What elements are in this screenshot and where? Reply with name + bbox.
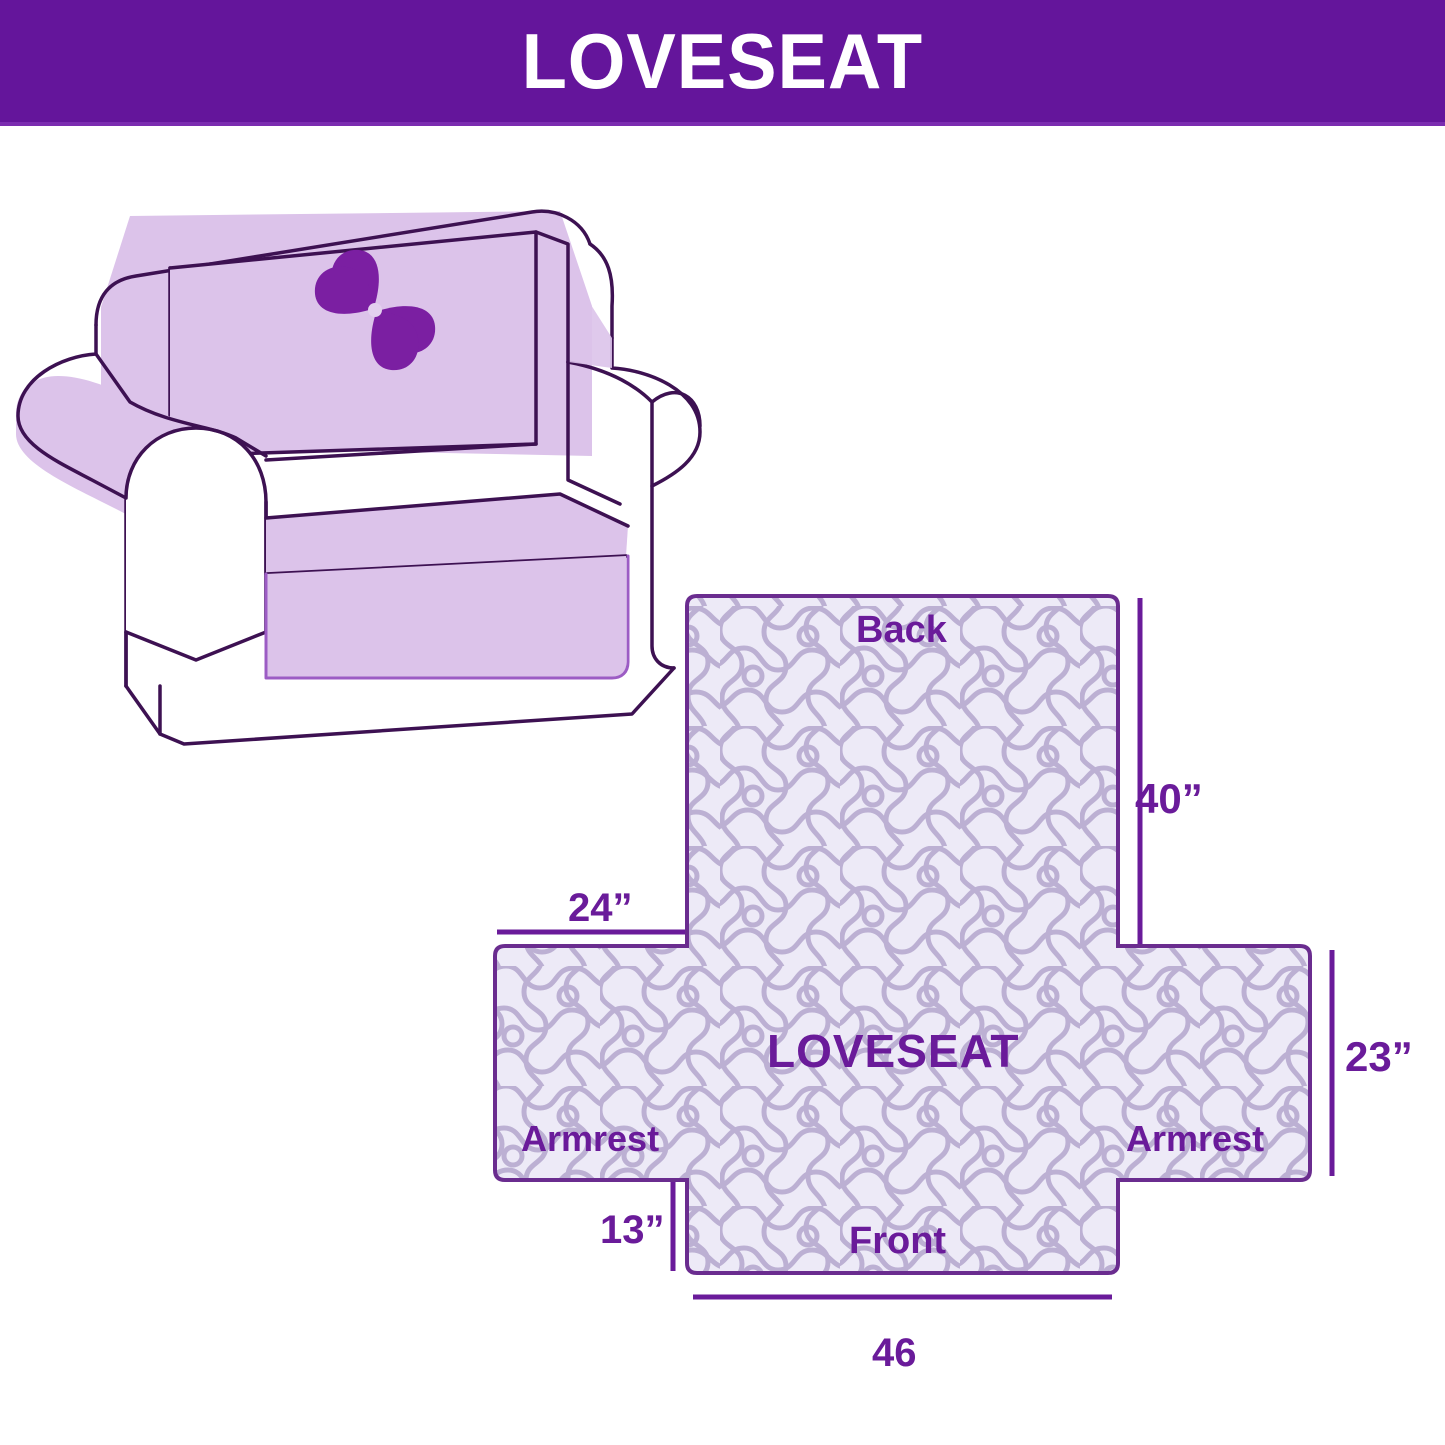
panel-label-back: Back bbox=[856, 611, 947, 649]
panel-label-armrest-left: Armrest bbox=[521, 1121, 659, 1157]
panel-label-front: Front bbox=[849, 1222, 946, 1260]
illustration-stage bbox=[0, 126, 1445, 1445]
dimension-label-back-height: 40” bbox=[1135, 778, 1203, 820]
panel-label-loveseat: LOVESEAT bbox=[767, 1028, 1020, 1074]
page-title: LOVESEAT bbox=[522, 22, 923, 100]
loveseat-line-drawing bbox=[16, 211, 700, 744]
page-header: LOVESEAT bbox=[0, 0, 1445, 126]
sofa-left-arm-roll bbox=[126, 428, 266, 660]
dimension-label-armrest-width: 24” bbox=[568, 888, 633, 928]
dimension-label-front-height: 13” bbox=[600, 1210, 665, 1250]
dimension-label-seat-width: 46 bbox=[872, 1333, 917, 1373]
dimension-label-armrest-height: 23” bbox=[1345, 1036, 1413, 1078]
page-root: LOVESEAT bbox=[0, 0, 1445, 1445]
panel-label-armrest-right: Armrest bbox=[1126, 1121, 1264, 1157]
sofa-front-skirt-fill bbox=[266, 556, 626, 678]
